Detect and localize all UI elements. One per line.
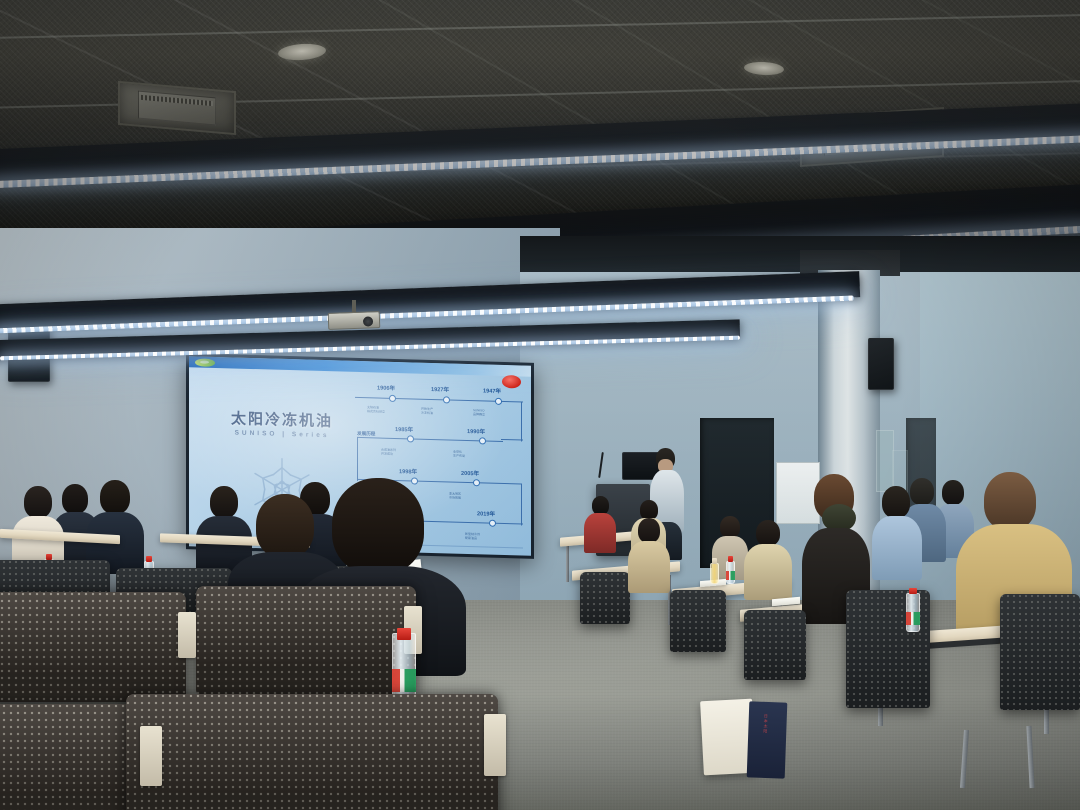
- person-body: [744, 544, 792, 600]
- timeline-text: 开始生产 冷冻机油: [421, 407, 465, 417]
- timeline-text: 新型制冷剂 配套油品: [465, 532, 511, 542]
- timeline-node: [473, 479, 480, 486]
- timeline-node: [411, 477, 418, 484]
- bottle-cap: [397, 628, 410, 640]
- person-head: [942, 480, 964, 505]
- timeline-node: [479, 437, 486, 444]
- person-head: [100, 480, 130, 514]
- timeline-year: 1998年: [399, 467, 417, 476]
- chair-armrest: [484, 714, 506, 776]
- timeline-year: 1947年: [483, 386, 501, 395]
- timeline-text: 全球化 生产布局: [453, 450, 501, 460]
- wall-speaker: [868, 338, 894, 390]
- bottle-label: [726, 571, 735, 579]
- person-body: [584, 513, 616, 553]
- timeline-rail: [501, 439, 523, 441]
- bottle-label: [906, 612, 920, 625]
- timeline-year: 1990年: [467, 427, 485, 436]
- person-head: [720, 516, 740, 538]
- person-head: [210, 486, 238, 518]
- timeline-rail: [357, 437, 358, 481]
- lecture-room-photo: 太阳冷冻机油 SUNISO | Series: [0, 0, 1080, 810]
- cup-body: [710, 563, 719, 584]
- person-head: [24, 486, 52, 518]
- person-head: [640, 500, 658, 520]
- bottle-cap: [728, 556, 733, 562]
- person-body: [872, 516, 922, 580]
- cup-lid: [712, 558, 717, 564]
- chair-armrest: [178, 612, 196, 658]
- bottle-label: [392, 669, 416, 692]
- timeline-year: 2005年: [461, 469, 479, 478]
- person-head: [984, 472, 1036, 530]
- chair[interactable]: [1000, 594, 1080, 710]
- green-leaf-logo-icon: [195, 358, 215, 367]
- person-head: [756, 520, 780, 546]
- timeline-node: [489, 520, 496, 527]
- timeline-year: 1985年: [395, 425, 413, 434]
- bottle-cap: [146, 556, 152, 562]
- chair[interactable]: [670, 590, 726, 652]
- person-head: [638, 518, 660, 543]
- projector-lens: [363, 316, 373, 326]
- timeline-node: [443, 396, 450, 403]
- water-bottle[interactable]: [392, 628, 416, 704]
- bag-text: 日本太阳: [762, 714, 769, 734]
- timeline-rail: [521, 401, 522, 441]
- chair[interactable]: [744, 610, 806, 680]
- slide-title: 太阳冷冻机油: [223, 407, 341, 431]
- foreground-seat[interactable]: [126, 694, 498, 810]
- drink-cup[interactable]: [710, 558, 719, 584]
- bottle-cap: [909, 588, 917, 594]
- foreground-seat[interactable]: [0, 592, 186, 702]
- timeline-node: [389, 395, 396, 402]
- desk-leg: [566, 542, 569, 582]
- timeline-node: [407, 435, 414, 442]
- timeline-text: 合成油系列 开发成功: [381, 448, 429, 458]
- person-head: [882, 486, 910, 518]
- water-bottle[interactable]: [726, 556, 735, 584]
- person-head: [62, 484, 88, 514]
- timeline-year: 1906年: [377, 383, 395, 392]
- timeline-text: 太阳石油 株式会社创立: [367, 405, 411, 415]
- timeline-year: 2019年: [477, 509, 495, 518]
- person-head: [910, 478, 934, 505]
- timeline-heading: 发展历程: [357, 431, 375, 438]
- timeline-text: SUNISO 品牌确立: [473, 408, 519, 418]
- chair-armrest: [140, 726, 162, 786]
- timeline-year: 1927年: [431, 385, 449, 394]
- timeline-rail: [521, 483, 522, 525]
- conference-bag[interactable]: 日本太阳: [747, 701, 788, 778]
- person-head: [332, 478, 424, 574]
- ceiling-projector: [328, 311, 381, 330]
- chair[interactable]: [580, 572, 630, 624]
- person-body: [628, 541, 670, 593]
- water-bottle[interactable]: [906, 588, 920, 632]
- person-head: [256, 494, 314, 558]
- foreground-seat[interactable]: [196, 586, 416, 694]
- timeline-text: 亚太地区 市场拓展: [449, 491, 495, 501]
- timeline-node: [495, 398, 502, 405]
